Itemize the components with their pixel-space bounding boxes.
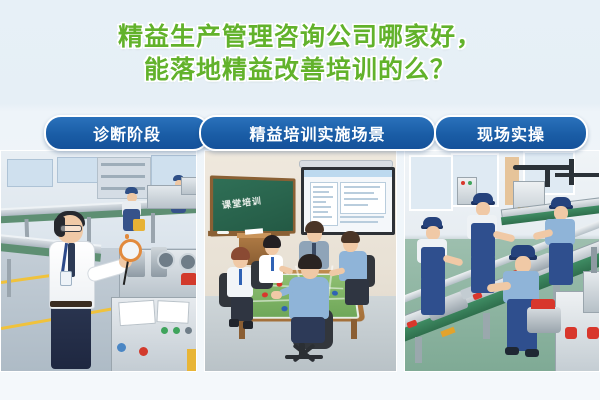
- badge-shopfloor-practice[interactable]: 现场实操: [434, 115, 588, 151]
- blackboard: 课堂培训: [210, 175, 296, 236]
- panel-diagnosis[interactable]: [0, 150, 197, 372]
- panel-shopfloor[interactable]: [404, 150, 600, 372]
- panel-caption-badges: 诊断阶段 精益培训实施场景 现场实操: [0, 115, 600, 149]
- poster-header: 精益生产管理咨询公司哪家好， 能落地精益改善培训的么？: [0, 0, 600, 108]
- blackboard-text: 课堂培训: [221, 194, 262, 212]
- panel-training[interactable]: 课堂培训: [204, 150, 397, 372]
- shopfloor-illustration: [405, 151, 599, 371]
- badge-diagnosis[interactable]: 诊断阶段: [44, 115, 210, 151]
- panel-strip: 课堂培训: [0, 150, 600, 372]
- badge-training-scene[interactable]: 精益培训实施场景: [199, 115, 436, 151]
- stopwatch-icon: [119, 239, 142, 262]
- poster-canvas: 精益生产管理咨询公司哪家好， 能落地精益改善培训的么？ 诊断阶段 精益培训实施场…: [0, 0, 600, 400]
- training-illustration: 课堂培训: [205, 151, 396, 371]
- poster-title-line-2: 能落地精益改善培训的么？: [144, 56, 456, 86]
- poster-title-line-1: 精益生产管理咨询公司哪家好，: [118, 23, 482, 53]
- diagnosis-illustration: [1, 151, 196, 371]
